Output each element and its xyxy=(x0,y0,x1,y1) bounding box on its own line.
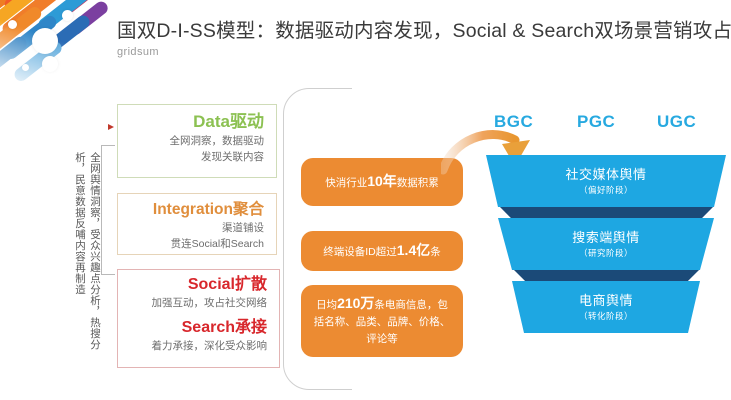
pillar-search-title: Search承接 xyxy=(128,313,267,337)
stat-2-number: 1.4亿 xyxy=(397,242,430,258)
content-type-row: BGC PGC UGC xyxy=(487,112,722,138)
funnel-stage-social-media: 社交媒体舆情 （偏好阶段） xyxy=(486,155,726,207)
label-ugc: UGC xyxy=(657,112,696,132)
stat-1-prefix: 快消行业 xyxy=(325,177,367,189)
stat-1-number: 10年 xyxy=(367,173,397,189)
funnel-stage-1-phase: （偏好阶段） xyxy=(579,184,633,196)
stat-1-suffix: 数据积累 xyxy=(397,177,439,189)
stat-2-suffix: 条 xyxy=(430,246,441,258)
bracket-connector xyxy=(101,145,116,275)
stat-pill-industry-years: 快消行业10年数据积累 xyxy=(301,158,463,206)
gridsum-logo xyxy=(0,0,112,92)
pillar-integration-title: Integration聚合 xyxy=(128,201,264,219)
stat-3-number: 210万 xyxy=(337,295,374,311)
stat-pill-ecommerce-records: 日均210万条电商信息，包括名称、品类、品牌、价格、评论等 xyxy=(301,285,463,357)
header-block: 国双D-I-SS模型：数据驱动内容发现，Social & Search双场景营销… xyxy=(117,14,727,58)
stat-3-prefix: 日均 xyxy=(316,299,337,311)
page-title: 国双D-I-SS模型：数据驱动内容发现，Social & Search双场景营销… xyxy=(117,14,727,43)
pillar-data-title: Data驱动 xyxy=(128,112,264,132)
pillar-search-line1: 着力承接，深化受众影响 xyxy=(128,339,267,353)
pillar-data-driven: Data驱动 全网洞察，数据驱动 发现关联内容 xyxy=(117,104,277,178)
label-pgc: PGC xyxy=(577,112,615,132)
funnel-diagram: 社交媒体舆情 （偏好阶段） 搜索端舆情 （研究阶段） 电商舆情 （转化阶段） xyxy=(486,155,726,355)
left-vertical-caption: 全网舆情洞察，受众兴趣点分析，热搜分析，民意数据反哺内容再制造 xyxy=(56,152,102,367)
pillar-integration-line1: 渠道铺设 xyxy=(128,221,264,235)
funnel-stage-2-title: 搜索端舆情 xyxy=(572,230,640,246)
pillar-social-title: Social扩散 xyxy=(128,276,267,294)
funnel-stage-ecommerce: 电商舆情 （转化阶段） xyxy=(512,281,700,333)
pillar-social-search: Social扩散 加强互动，攻占社交网络 Search承接 着力承接，深化受众影… xyxy=(117,269,280,368)
funnel-stage-3-title: 电商舆情 xyxy=(579,293,633,309)
slide-canvas: 国双D-I-SS模型：数据驱动内容发现，Social & Search双场景营销… xyxy=(0,0,731,400)
pillar-integration-line2: 贯连Social和Search xyxy=(128,237,264,251)
stat-2-prefix: 终端设备ID超过 xyxy=(323,246,397,258)
funnel-stage-3-phase: （转化阶段） xyxy=(579,310,633,322)
arrow-right-icon xyxy=(108,124,114,130)
pillar-data-line2: 发现关联内容 xyxy=(128,150,264,164)
funnel-stage-2-phase: （研究阶段） xyxy=(579,247,633,259)
pillar-social-line1: 加强互动，攻占社交网络 xyxy=(128,296,267,310)
brand-subtitle: gridsum xyxy=(117,46,727,58)
funnel-stage-search: 搜索端舆情 （研究阶段） xyxy=(498,218,714,270)
pillar-integration: Integration聚合 渠道铺设 贯连Social和Search xyxy=(117,193,277,255)
pillar-data-line1: 全网洞察，数据驱动 xyxy=(128,134,264,148)
stat-pill-device-ids: 终端设备ID超过1.4亿条 xyxy=(301,231,463,271)
funnel-stage-1-title: 社交媒体舆情 xyxy=(565,167,646,183)
label-bgc: BGC xyxy=(494,112,533,132)
